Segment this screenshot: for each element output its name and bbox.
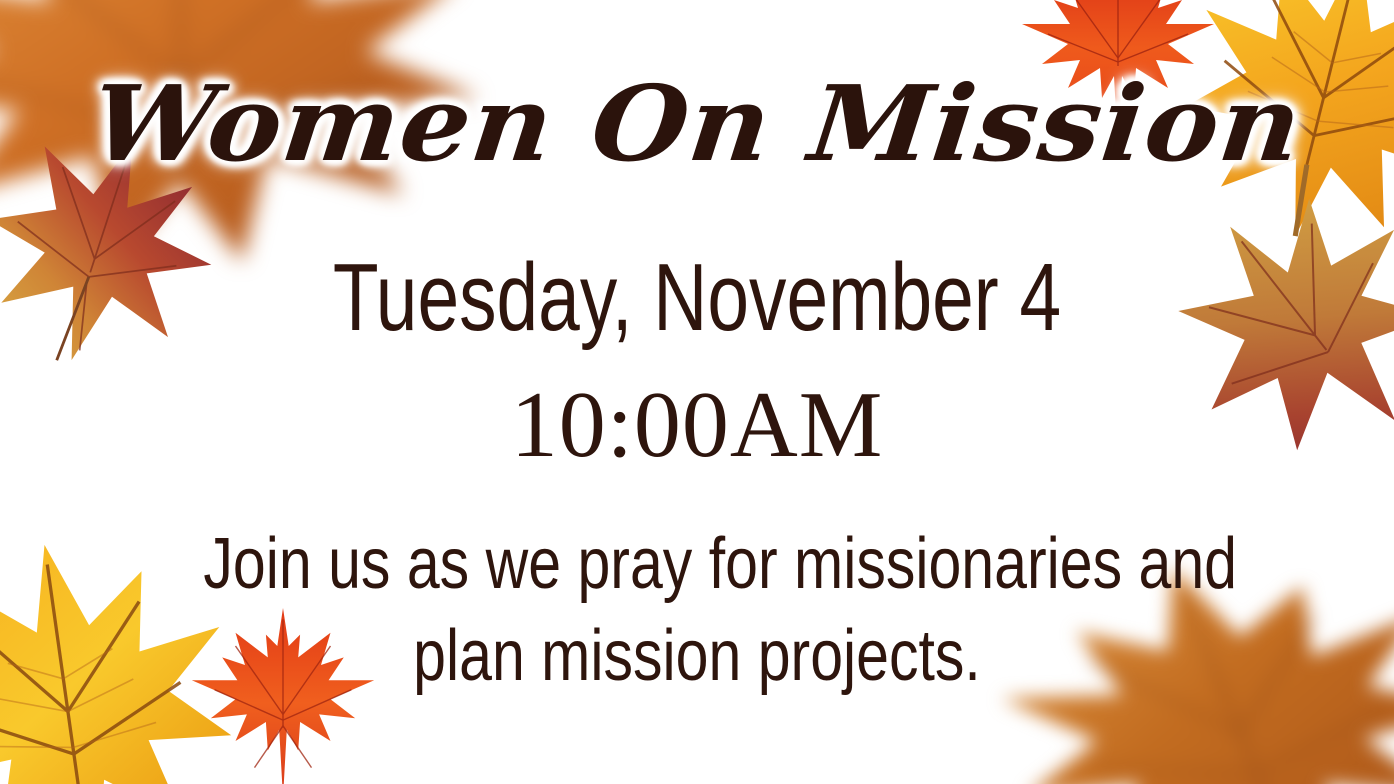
flyer-title: Women On Mission — [0, 72, 1394, 176]
event-time: 10:00AM — [0, 376, 1394, 475]
flyer-text-layer: Women On Mission Tuesday, November 4 10:… — [0, 0, 1394, 784]
event-description-line-1: Join us as we pray for missionaries and — [203, 518, 1190, 610]
event-date: Tuesday, November 4 — [153, 248, 1240, 349]
flyer-canvas: Women On Mission Tuesday, November 4 10:… — [0, 0, 1394, 784]
event-description: Join us as we pray for missionaries and … — [203, 518, 1190, 702]
event-description-line-2: plan mission projects. — [203, 610, 1190, 702]
